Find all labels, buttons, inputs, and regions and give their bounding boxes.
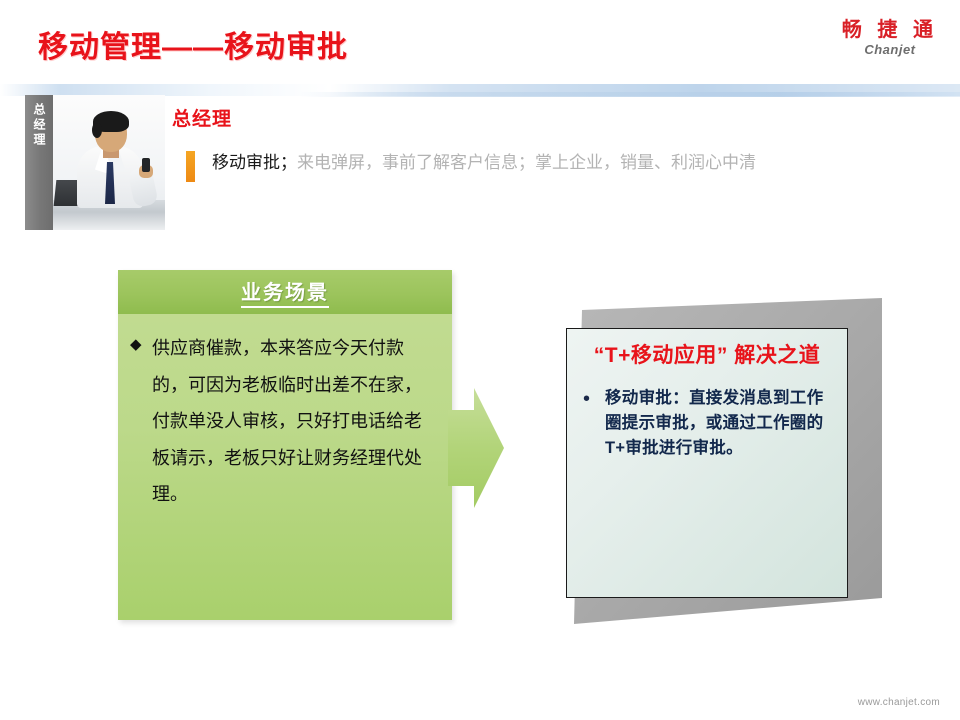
persona-description: 移动审批；来电弹屏，事前了解客户信息；掌上企业，销量、利润心中清 (212, 150, 756, 176)
persona-role-tab: 总经理 (25, 95, 53, 230)
portrait-mobile-phone (142, 158, 150, 172)
solution-card-text: 移动审批：直接发消息到工作圈提示审批，或通过工作圈的T+审批进行审批。 (605, 386, 835, 461)
solution-card: “T+移动应用” 解决之道 • 移动审批：直接发消息到工作圈提示审批，或通过工作… (566, 328, 848, 598)
persona-portrait-image (53, 95, 165, 230)
title-divider-band-secondary (300, 92, 960, 97)
persona-role-tab-label: 总经理 (31, 95, 48, 148)
orange-bar-icon (186, 151, 195, 182)
solution-card-title: “T+移动应用” 解决之道 (567, 329, 847, 370)
business-scenario-card: 业务场景 ◆供应商催款，本来答应今天付款的，可因为老板临时出差不在家，付款单没人… (118, 270, 452, 620)
business-scenario-header: 业务场景 (118, 270, 452, 314)
right-arrow-icon (448, 388, 504, 508)
footer-url: www.chanjet.com (858, 697, 940, 708)
brand-logo-cn: 畅 捷 通 (842, 20, 938, 40)
persona-photo-block: 总经理 (25, 95, 165, 230)
brand-logo-en: Chanjet (842, 43, 938, 56)
persona-description-highlight: 移动审批； (212, 153, 297, 173)
diamond-bullet-icon: ◆ (130, 330, 142, 360)
business-scenario-body: ◆供应商催款，本来答应今天付款的，可因为老板临时出差不在家，付款单没人审核，只好… (118, 314, 452, 513)
solution-card-body: • 移动审批：直接发消息到工作圈提示审批，或通过工作圈的T+审批进行审批。 (567, 386, 847, 461)
business-scenario-header-label: 业务场景 (241, 276, 329, 308)
persona-title: 总经理 (172, 104, 232, 131)
page-title: 移动管理——移动审批 (38, 22, 348, 66)
brand-logo: 畅 捷 通 Chanjet (842, 20, 938, 56)
persona-description-row: 移动审批；来电弹屏，事前了解客户信息；掌上企业，销量、利润心中清 (186, 150, 756, 182)
round-bullet-icon: • (583, 386, 605, 410)
portrait-sideburn (92, 122, 102, 138)
business-scenario-text-wrap: ◆供应商催款，本来答应今天付款的，可因为老板临时出差不在家，付款单没人审核，只好… (130, 330, 438, 513)
persona-description-rest: 来电弹屏，事前了解客户信息；掌上企业，销量、利润心中清 (297, 153, 756, 173)
business-scenario-text: 供应商催款，本来答应今天付款的，可因为老板临时出差不在家，付款单没人审核，只好打… (152, 338, 422, 504)
